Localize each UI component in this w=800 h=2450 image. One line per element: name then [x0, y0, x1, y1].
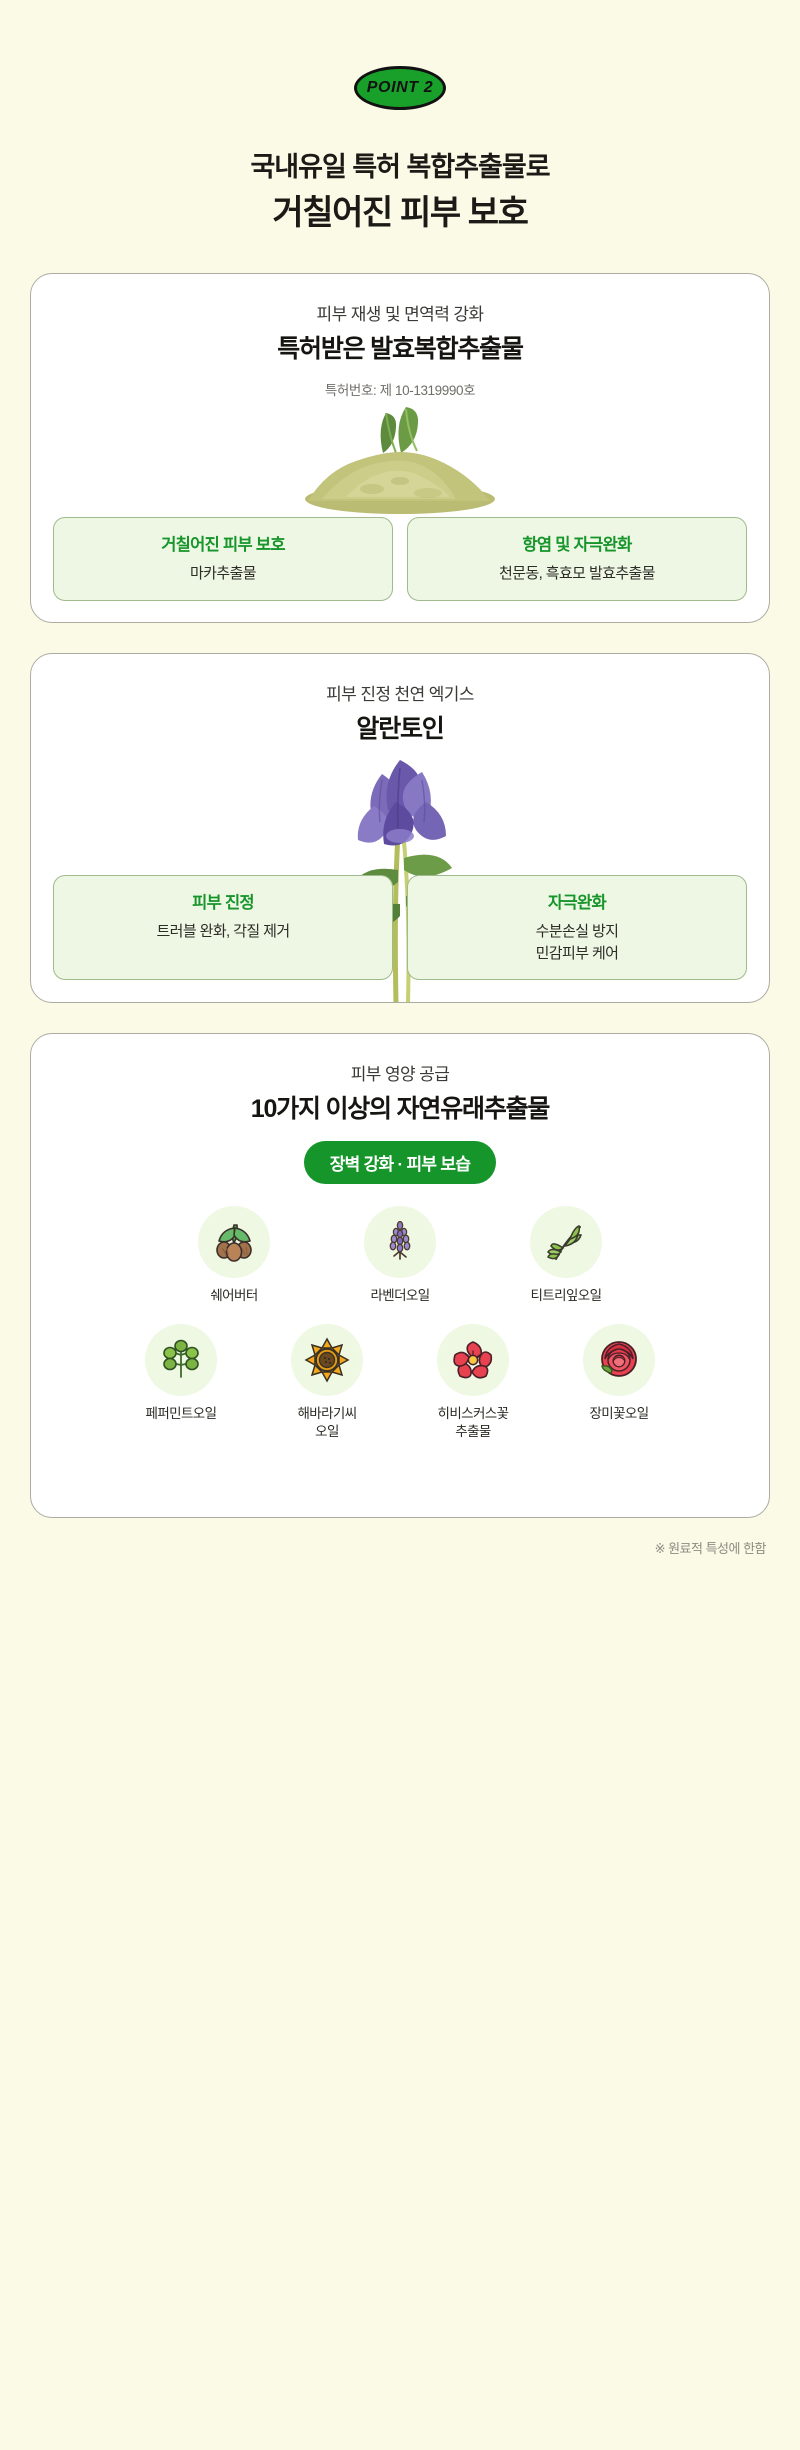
card-title: 알란토인 [31, 709, 769, 745]
leaf-shoots-icon [381, 407, 418, 453]
point-badge-label: POINT 2 [367, 79, 433, 97]
footnote: ※ 원료적 특성에 한함 [30, 1538, 770, 1557]
tag-heading: 자극완화 [414, 889, 740, 913]
tea-tree-oil-icon [530, 1206, 602, 1278]
shea-butter-icon [198, 1206, 270, 1278]
ingredient-grid: 쉐어버터 [31, 1206, 769, 1441]
point-badge-wrapper: POINT 2 [30, 0, 770, 110]
tag-heading: 거칠어진 피부 보호 [60, 531, 386, 555]
card-subtitle: 피부 재생 및 면역력 강화 [31, 300, 769, 325]
ingredient-label: 티트리잎오일 [531, 1287, 602, 1305]
benefit-pill-label: 장벽 강화 · 피부 보습 [330, 1155, 471, 1174]
benefit-pill: 장벽 강화 · 피부 보습 [304, 1141, 497, 1184]
ingredient-label: 라벤더오일 [370, 1287, 429, 1305]
tag-heading: 피부 진정 [60, 889, 386, 913]
ingredient-item: 티트리잎오일 [506, 1206, 626, 1305]
ingredient-item: 페퍼민트오일 [121, 1324, 241, 1441]
ingredient-row-1: 쉐어버터 [57, 1206, 743, 1305]
headline-line-1: 국내유일 특허 복합추출물로 [30, 150, 770, 185]
tag-heading: 항염 및 자극완화 [414, 531, 740, 555]
tag-row: 피부 진정 트러블 완화, 각질 제거 자극완화 수분손실 방지 민감피부 케어 [31, 875, 769, 981]
tag-body: 수분손실 방지 민감피부 케어 [414, 921, 740, 965]
card-subtitle: 피부 진정 천연 엑기스 [31, 680, 769, 705]
peppermint-oil-icon [145, 1324, 217, 1396]
ingredient-item: 히비스커스꽃 추출물 [413, 1324, 533, 1441]
point-badge: POINT 2 [354, 66, 446, 110]
card-patented-extract: 피부 재생 및 면역력 강화 특허받은 발효복합추출물 특허번호: 제 10-1… [30, 273, 770, 623]
card-title: 특허받은 발효복합추출물 [31, 329, 769, 365]
rose-oil-icon [583, 1324, 655, 1396]
ingredient-item: 해바라기씨 오일 [267, 1324, 387, 1441]
product-detail-page: POINT 2 국내유일 특허 복합추출물로 거칠어진 피부 보호 피부 재생 … [0, 0, 800, 2450]
hibiscus-flower-extract-icon [437, 1324, 509, 1396]
tag-body: 마카추출물 [60, 563, 386, 585]
ingredient-label: 장미꽃오일 [589, 1405, 648, 1423]
tag-row: 거칠어진 피부 보호 마카추출물 항염 및 자극완화 천문동, 흑효모 발효추출… [31, 517, 769, 601]
card-allantoin: 피부 진정 천연 엑기스 알란토인 [30, 653, 770, 1003]
ingredient-label: 페퍼민트오일 [146, 1405, 217, 1423]
tag-box: 거칠어진 피부 보호 마카추출물 [53, 517, 393, 601]
card-natural-extracts: 피부 영양 공급 10가지 이상의 자연유래추출물 장벽 강화 · 피부 보습 [30, 1033, 770, 1518]
tag-body: 트러블 완화, 각질 제거 [60, 921, 386, 943]
tag-box: 항염 및 자극완화 천문동, 흑효모 발효추출물 [407, 517, 747, 601]
page-title: 국내유일 특허 복합추출물로 거칠어진 피부 보호 [30, 150, 770, 235]
lavender-oil-icon [364, 1206, 436, 1278]
ingredient-label: 히비스커스꽃 추출물 [438, 1405, 509, 1441]
tag-box: 자극완화 수분손실 방지 민감피부 케어 [407, 875, 747, 981]
patent-number: 특허번호: 제 10-1319990호 [31, 379, 769, 399]
ingredient-item: 쉐어버터 [174, 1206, 294, 1305]
tag-box: 피부 진정 트러블 완화, 각질 제거 [53, 875, 393, 981]
tag-body: 천문동, 흑효모 발효추출물 [414, 563, 740, 585]
powder-mound [305, 452, 495, 514]
headline-line-2: 거칠어진 피부 보호 [30, 191, 770, 235]
benefit-pill-wrapper: 장벽 강화 · 피부 보습 [31, 1141, 769, 1184]
card-title: 10가지 이상의 자연유래추출물 [31, 1089, 769, 1125]
ingredient-item: 장미꽃오일 [559, 1324, 679, 1441]
ingredient-label: 쉐어버터 [210, 1287, 257, 1305]
sunflower-seed-oil-icon [291, 1324, 363, 1396]
card-subtitle: 피부 영양 공급 [31, 1060, 769, 1085]
ingredient-label: 해바라기씨 오일 [297, 1405, 356, 1441]
ingredient-row-2: 페퍼민트오일 [57, 1324, 743, 1441]
ingredient-item: 라벤더오일 [340, 1206, 460, 1305]
gentian-blossoms [358, 760, 446, 846]
fermented-powder-image [31, 405, 769, 517]
